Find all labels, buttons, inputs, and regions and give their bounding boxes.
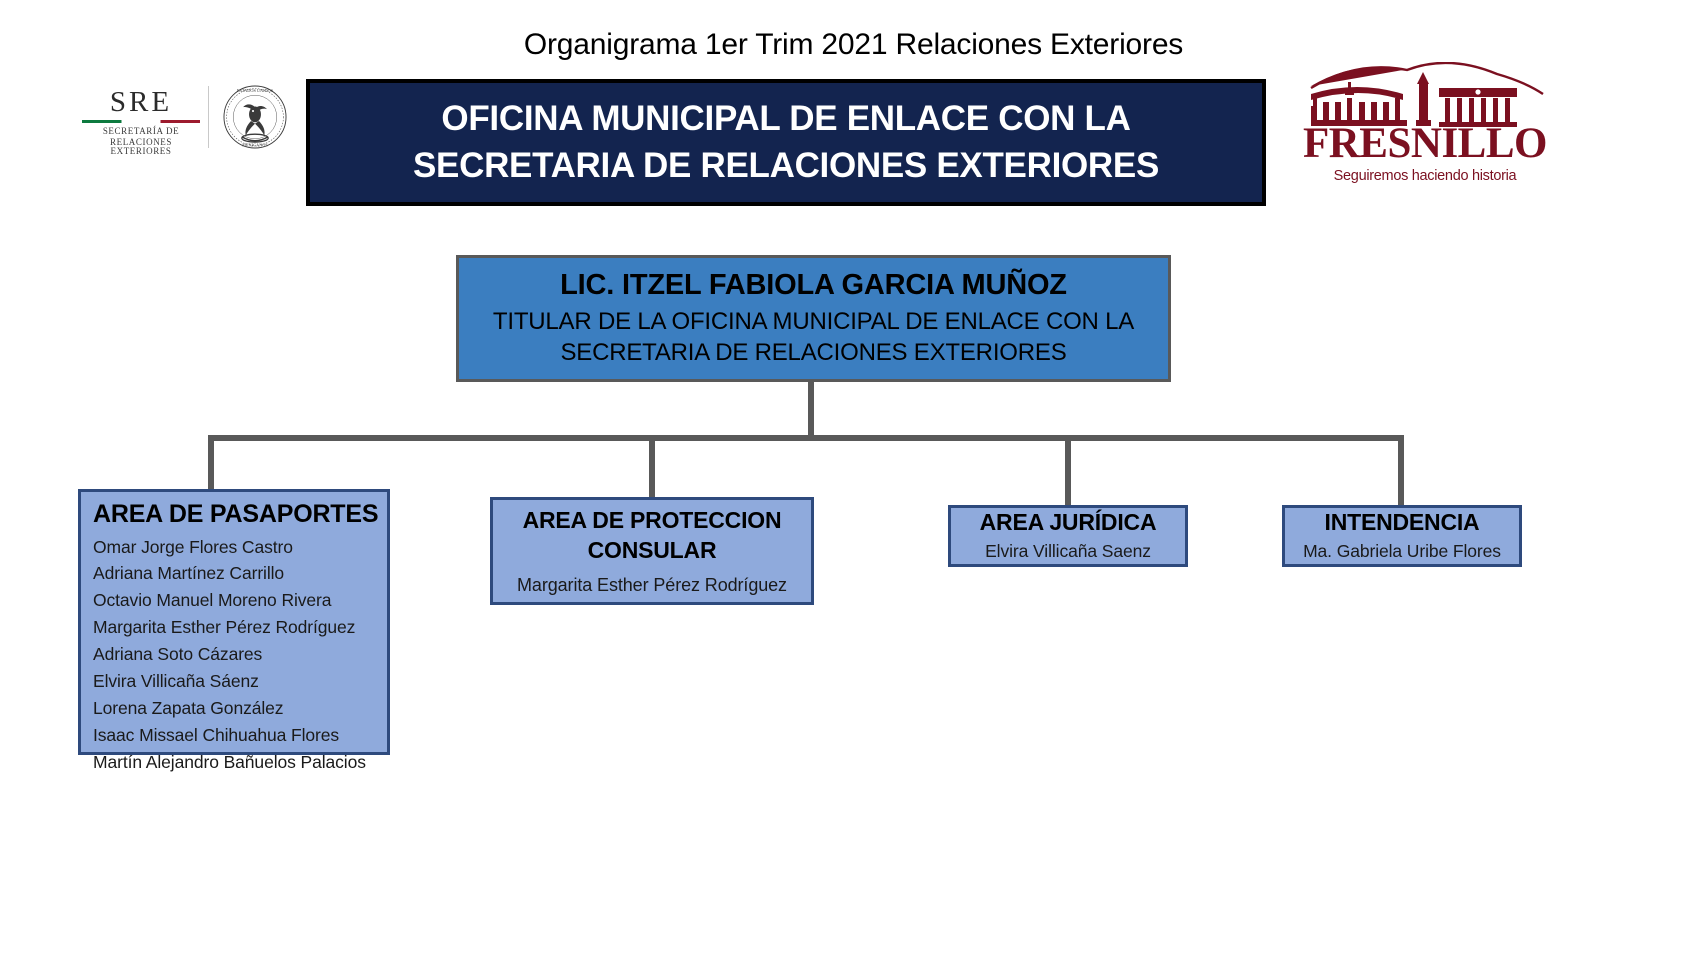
header-banner: OFICINA MUNICIPAL DE ENLACE CON LA SECRE… [306, 79, 1266, 206]
page-title: Organigrama 1er Trim 2021 Relaciones Ext… [0, 28, 1707, 62]
svg-text:MEXICANOS: MEXICANOS [242, 143, 268, 148]
connector-horizontal-bus [208, 435, 1404, 441]
department-title-intendencia: INTENDENCIA [1325, 509, 1480, 537]
fresnillo-logo: FRESNILLO Seguiremos haciendo historia [1295, 62, 1555, 202]
staff-name: Margarita Esther Pérez Rodríguez [517, 574, 787, 597]
department-node-juridica: AREA JURÍDICA Elvira Villicaña Saenz [948, 505, 1188, 567]
department-title-juridica: AREA JURÍDICA [980, 509, 1157, 537]
director-role-line-2: SECRETARIA DE RELACIONES EXTERIORES [560, 338, 1066, 369]
sre-logo: SRE SECRETARÍA DE RELACIONES EXTERIORES [82, 88, 200, 156]
director-node: LIC. ITZEL FABIOLA GARCIA MUÑOZ TITULAR … [456, 255, 1171, 382]
connector-director-stem [808, 382, 814, 439]
staff-name: Adriana Martínez Carrillo [93, 560, 387, 587]
logo-divider [208, 86, 209, 148]
sre-subtitle-line2: RELACIONES EXTERIORES [82, 138, 200, 156]
department-node-pasaportes: AREA DE PASAPORTES Omar Jorge Flores Cas… [78, 489, 390, 755]
header-line-1: OFICINA MUNICIPAL DE ENLACE CON LA [441, 96, 1130, 142]
director-role-line-1: TITULAR DE LA OFICINA MUNICIPAL DE ENLAC… [493, 307, 1134, 338]
sre-tricolor-rule [82, 120, 200, 123]
connector-drop-pasaportes [208, 435, 214, 489]
department-title-pasaportes: AREA DE PASAPORTES [93, 500, 387, 530]
svg-text:ESTADOS UNIDOS: ESTADOS UNIDOS [237, 88, 274, 93]
staff-name: Omar Jorge Flores Castro [93, 534, 387, 561]
department-title-consular-line-2: CONSULAR [588, 535, 717, 565]
staff-name: Adriana Soto Cázares [93, 641, 387, 668]
mexican-coat-of-arms-seal: ESTADOS UNIDOS MEXICANOS [222, 84, 288, 150]
staff-name: Isaac Missael Chihuahua Flores [93, 722, 387, 749]
fresnillo-tagline: Seguiremos haciendo historia [1295, 168, 1555, 184]
fresnillo-landmark-silhouette [1309, 62, 1545, 128]
department-node-intendencia: INTENDENCIA Ma. Gabriela Uribe Flores [1282, 505, 1522, 567]
connector-drop-juridica [1065, 435, 1071, 505]
staff-name: Margarita Esther Pérez Rodríguez [93, 614, 387, 641]
connector-drop-consular [649, 435, 655, 497]
department-title-consular-line-1: AREA DE PROTECCION [523, 505, 782, 535]
sre-acronym: SRE [82, 88, 200, 117]
staff-name: Elvira Villicaña Sáenz [93, 668, 387, 695]
header-line-2: SECRETARIA DE RELACIONES EXTERIORES [413, 143, 1159, 189]
staff-name: Lorena Zapata González [93, 695, 387, 722]
connector-drop-intendencia [1398, 435, 1404, 505]
staff-name: Octavio Manuel Moreno Rivera [93, 587, 387, 614]
sre-subtitle-line1: SECRETARÍA DE [82, 127, 200, 136]
director-name: LIC. ITZEL FABIOLA GARCIA MUÑOZ [560, 268, 1067, 303]
staff-name: Martín Alejandro Bañuelos Palacios [93, 749, 387, 776]
department-node-consular: AREA DE PROTECCION CONSULAR Margarita Es… [490, 497, 814, 605]
fresnillo-wordmark: FRESNILLO [1295, 122, 1555, 165]
staff-name: Elvira Villicaña Saenz [985, 540, 1151, 563]
staff-name: Ma. Gabriela Uribe Flores [1303, 540, 1501, 563]
